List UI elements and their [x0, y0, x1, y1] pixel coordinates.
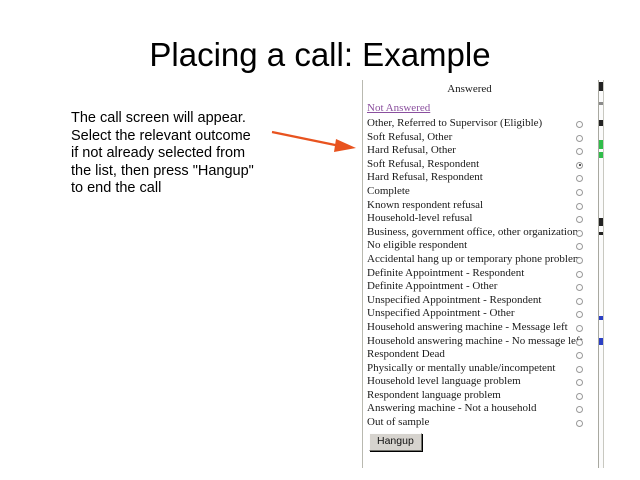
- outcome-list-item[interactable]: Household answering machine - No message…: [363, 335, 594, 349]
- outcome-label: Soft Refusal, Respondent: [367, 158, 479, 170]
- outcome-label: Household level language problem: [367, 375, 521, 387]
- outcome-label: Accidental hang up or temporary phone pr…: [367, 253, 581, 265]
- outcome-label: Household answering machine - Message le…: [367, 321, 568, 333]
- outcome-label: Known respondent refusal: [367, 199, 483, 211]
- outcome-radio-button[interactable]: [576, 230, 583, 237]
- outcome-label: Out of sample: [367, 416, 429, 428]
- outcome-radio-button[interactable]: [576, 203, 583, 210]
- outcome-label: Respondent language problem: [367, 389, 501, 401]
- outcome-label: No eligible respondent: [367, 239, 467, 251]
- call-screen-panel: Answered Not Answered Other, Referred to…: [362, 80, 594, 468]
- sliver-mark: [599, 152, 603, 158]
- outcome-label: Unspecified Appointment - Respondent: [367, 294, 541, 306]
- outcome-radio-button[interactable]: [576, 284, 583, 291]
- outcome-label: Complete: [367, 185, 410, 197]
- outcome-radio-button[interactable]: [576, 298, 583, 305]
- outcome-list-item[interactable]: Physically or mentally unable/incompeten…: [363, 362, 594, 376]
- outcome-list-item[interactable]: Business, government office, other organ…: [363, 226, 594, 240]
- call-outcome-list[interactable]: Other, Referred to Supervisor (Eligible)…: [363, 117, 594, 430]
- outcome-radio-button[interactable]: [576, 121, 583, 128]
- outcome-list-item[interactable]: Soft Refusal, Other: [363, 131, 594, 145]
- outcome-label: Hard Refusal, Other: [367, 144, 456, 156]
- outcome-list-item[interactable]: Soft Refusal, Respondent: [363, 158, 594, 172]
- sliver-mark: [599, 82, 603, 91]
- outcome-radio-button[interactable]: [576, 325, 583, 332]
- callout-line: to end the call: [71, 180, 276, 198]
- outcome-list-item[interactable]: Hard Refusal, Other: [363, 144, 594, 158]
- outcome-radio-button[interactable]: [576, 243, 583, 250]
- sliver-mark: [599, 218, 603, 226]
- sliver-mark: [599, 338, 603, 345]
- outcome-radio-button[interactable]: [576, 393, 583, 400]
- callout-line: if not already selected from: [71, 145, 276, 163]
- outcome-radio-button[interactable]: [576, 148, 583, 155]
- sliver-mark: [599, 316, 603, 320]
- outcome-label: Physically or mentally unable/incompeten…: [367, 362, 555, 374]
- callout-line: The call screen will appear.: [71, 110, 276, 128]
- sliver-mark: [599, 232, 603, 235]
- outcome-radio-button[interactable]: [576, 271, 583, 278]
- not-answered-link[interactable]: Not Answered: [367, 102, 430, 114]
- callout-line: the list, then press "Hangup": [71, 163, 276, 181]
- answered-section-header: Answered: [363, 80, 594, 98]
- outcome-radio-button[interactable]: [576, 366, 583, 373]
- outcome-radio-button[interactable]: [576, 216, 583, 223]
- outcome-list-item[interactable]: Respondent Dead: [363, 348, 594, 362]
- outcome-list-item[interactable]: Definite Appointment - Other: [363, 280, 594, 294]
- outcome-radio-button[interactable]: [576, 352, 583, 359]
- sliver-mark: [599, 140, 603, 149]
- outcome-list-item[interactable]: Other, Referred to Supervisor (Eligible): [363, 117, 594, 131]
- outcome-radio-button[interactable]: [576, 175, 583, 182]
- outcome-list-item[interactable]: Household level language problem: [363, 375, 594, 389]
- hangup-button[interactable]: Hangup: [369, 433, 422, 451]
- outcome-label: Respondent Dead: [367, 348, 445, 360]
- outcome-list-item[interactable]: Unspecified Appointment - Other: [363, 307, 594, 321]
- outcome-list-item[interactable]: Unspecified Appointment - Respondent: [363, 294, 594, 308]
- outcome-list-item[interactable]: Definite Appointment - Respondent: [363, 267, 594, 281]
- outcome-radio-button[interactable]: [576, 420, 583, 427]
- outcome-radio-button[interactable]: [576, 406, 583, 413]
- outcome-radio-button[interactable]: [576, 257, 583, 264]
- outcome-list-item[interactable]: No eligible respondent: [363, 239, 594, 253]
- adjacent-window-sliver: [598, 80, 604, 468]
- callout-line: Select the relevant outcome: [71, 128, 276, 146]
- outcome-label: Business, government office, other organ…: [367, 226, 578, 238]
- outcome-radio-button[interactable]: [576, 162, 583, 169]
- sliver-mark: [599, 120, 603, 126]
- outcome-list-item[interactable]: Known respondent refusal: [363, 199, 594, 213]
- callout-text-block: The call screen will appear. Select the …: [71, 110, 276, 198]
- outcome-radio-button[interactable]: [576, 135, 583, 142]
- outcome-list-item[interactable]: Complete: [363, 185, 594, 199]
- outcome-label: Unspecified Appointment - Other: [367, 307, 515, 319]
- outcome-radio-button[interactable]: [576, 311, 583, 318]
- outcome-list-item[interactable]: Accidental hang up or temporary phone pr…: [363, 253, 594, 267]
- outcome-label: Household answering machine - No message…: [367, 335, 583, 347]
- outcome-label: Definite Appointment - Other: [367, 280, 497, 292]
- outcome-label: Soft Refusal, Other: [367, 131, 452, 143]
- outcome-list-item[interactable]: Hard Refusal, Respondent: [363, 171, 594, 185]
- outcome-list-item[interactable]: Household answering machine - Message le…: [363, 321, 594, 335]
- outcome-label: Household-level refusal: [367, 212, 472, 224]
- outcome-list-item[interactable]: Answering machine - Not a household: [363, 402, 594, 416]
- outcome-list-item[interactable]: Out of sample: [363, 416, 594, 430]
- outcome-list-item[interactable]: Respondent language problem: [363, 389, 594, 403]
- page-title: Placing a call: Example: [0, 36, 640, 74]
- outcome-radio-button[interactable]: [576, 339, 583, 346]
- outcome-label: Definite Appointment - Respondent: [367, 267, 524, 279]
- arrow-annotation-icon: [268, 124, 360, 156]
- outcome-radio-button[interactable]: [576, 189, 583, 196]
- outcome-label: Answering machine - Not a household: [367, 402, 537, 414]
- outcome-list-item[interactable]: Household-level refusal: [363, 212, 594, 226]
- outcome-radio-button[interactable]: [576, 379, 583, 386]
- outcome-label: Hard Refusal, Respondent: [367, 171, 483, 183]
- outcome-label: Other, Referred to Supervisor (Eligible): [367, 117, 542, 129]
- sliver-mark: [599, 102, 603, 105]
